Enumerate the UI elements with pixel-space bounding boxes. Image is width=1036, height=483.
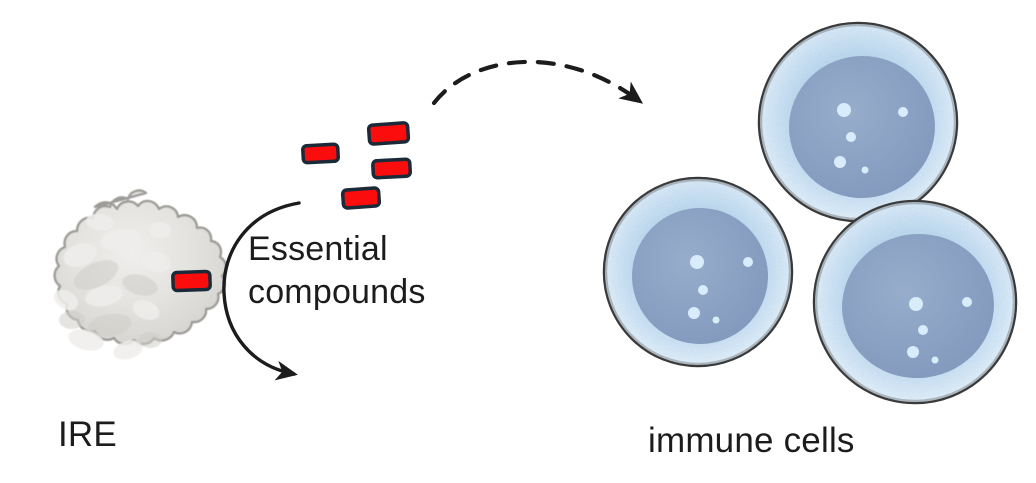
- immune-cell-left: [605, 179, 791, 365]
- immune-cell-bottom: [815, 202, 1015, 402]
- compound-1: [303, 144, 339, 163]
- essential-compounds-label: Essential compounds: [248, 228, 488, 314]
- ire-label: IRE: [58, 415, 117, 455]
- compound-group: [303, 123, 411, 209]
- essential-compounds-line-1: Essential: [248, 228, 488, 271]
- diagram-svg: [0, 0, 1036, 483]
- immune-cells-label: immune cells: [648, 421, 855, 461]
- diagram-canvas: IRE immune cells Essential compounds: [0, 0, 1036, 483]
- receptor-bar: [173, 271, 211, 290]
- compound-4: [342, 188, 379, 208]
- compound-2: [368, 123, 408, 145]
- compound-3: [373, 159, 411, 178]
- essential-compounds-line-2: compounds: [248, 271, 488, 314]
- immune-cell-top: [760, 24, 956, 220]
- transport-dashed-arrow: [434, 62, 638, 103]
